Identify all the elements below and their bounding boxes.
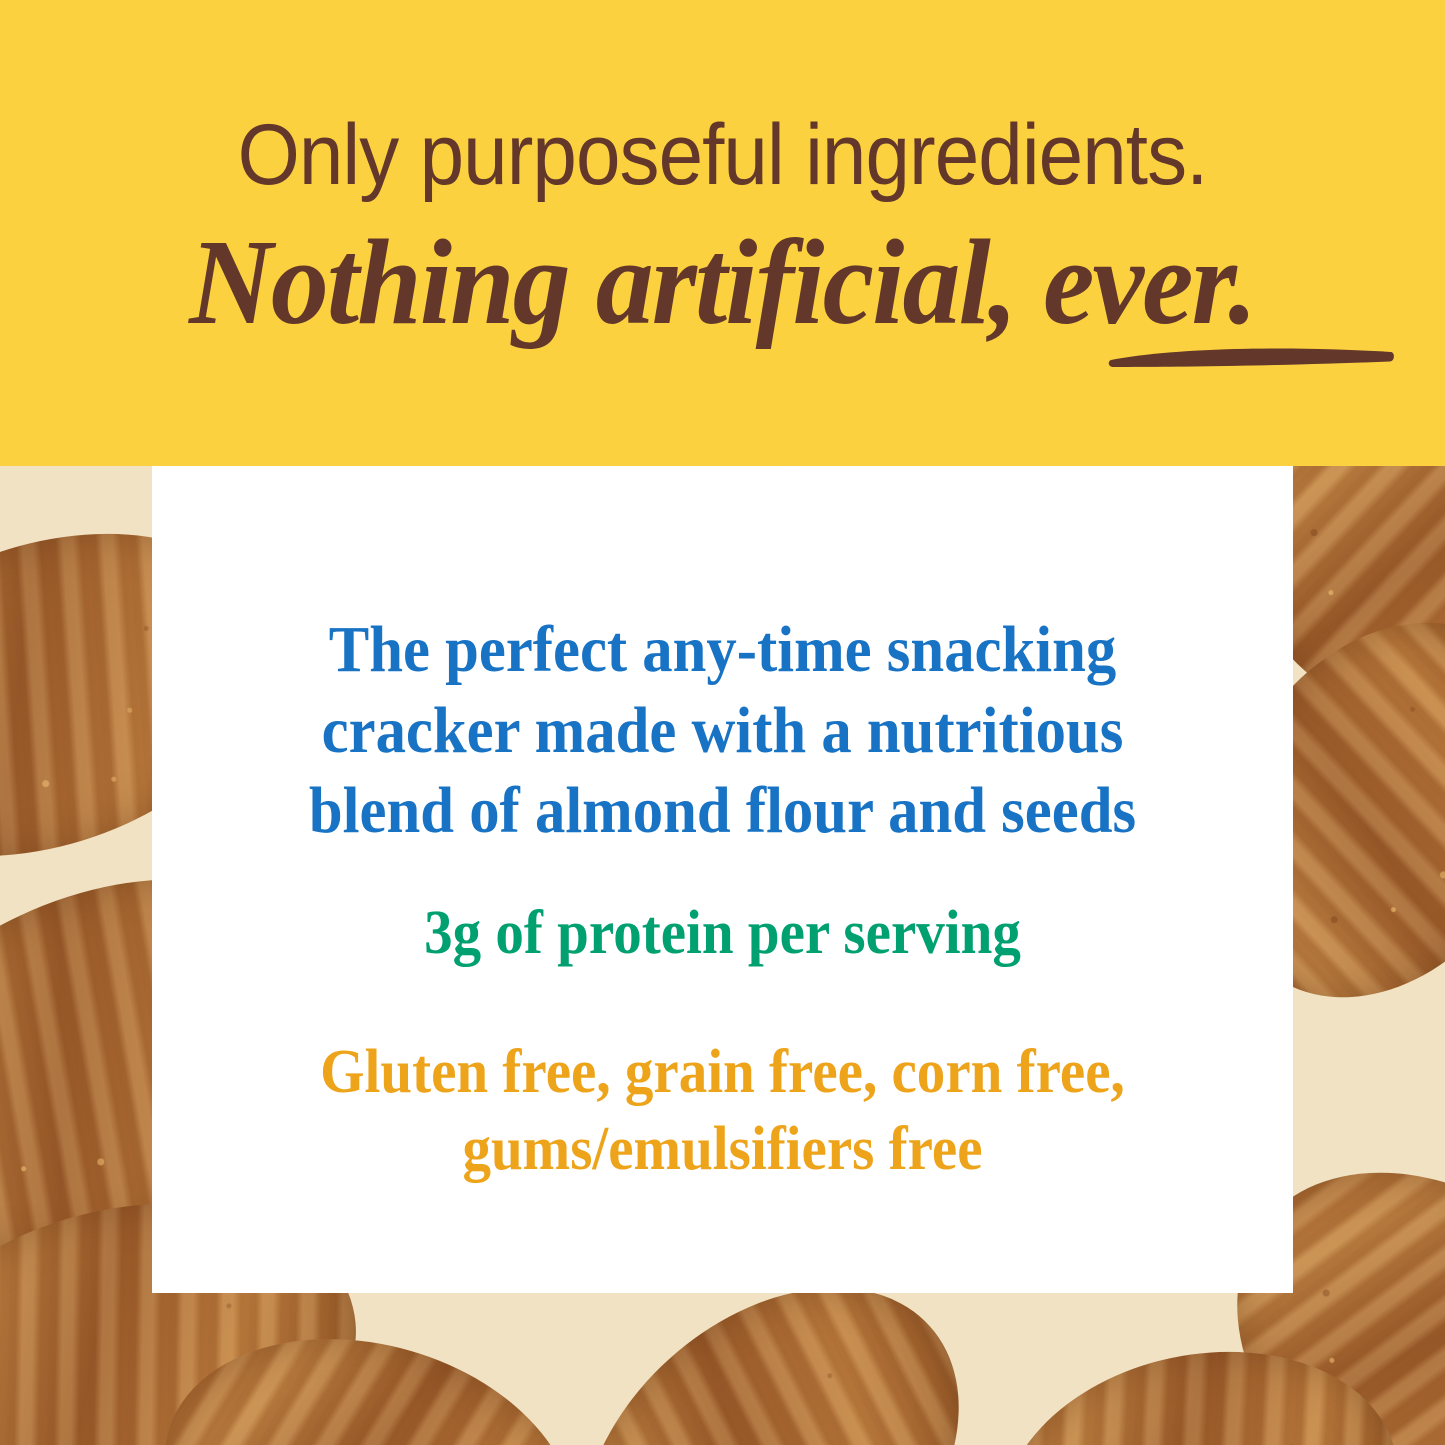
green-claim-block: 3g of protein per serving [198,896,1248,970]
blue-claim-block: The perfect any-time snacking cracker ma… [198,610,1248,852]
blue-claim-line-2: cracker made with a nutritious [198,691,1248,772]
free-from-claim-line-2: gums/emulsifiers free [198,1111,1248,1188]
headline-banner: Only purposeful ingredients. Nothing art… [0,0,1445,466]
headline-line-2-plain: Nothing artificial, [189,215,1043,350]
blue-claim-line-1: The perfect any-time snacking [198,610,1248,691]
product-marketing-panel: Only purposeful ingredients. Nothing art… [0,0,1445,1445]
gold-claim-block: Gluten free, grain free, corn free, gums… [198,1034,1248,1188]
free-from-claim-line-1: Gluten free, grain free, corn free, [198,1034,1248,1111]
blue-claim-line-3: blend of almond flour and seeds [198,771,1248,852]
headline-line-2-emphasis: ever. [1043,215,1256,350]
protein-claim-line-1: 3g of protein per serving [198,896,1248,970]
hand-drawn-underline-icon [1107,336,1397,370]
headline-line-2: Nothing artificial, ever. [189,222,1255,344]
claims-card: The perfect any-time snacking cracker ma… [152,466,1293,1293]
headline-line-2-wrapper: Nothing artificial, ever. [0,222,1445,344]
headline-line-1: Only purposeful ingredients. [51,112,1395,198]
